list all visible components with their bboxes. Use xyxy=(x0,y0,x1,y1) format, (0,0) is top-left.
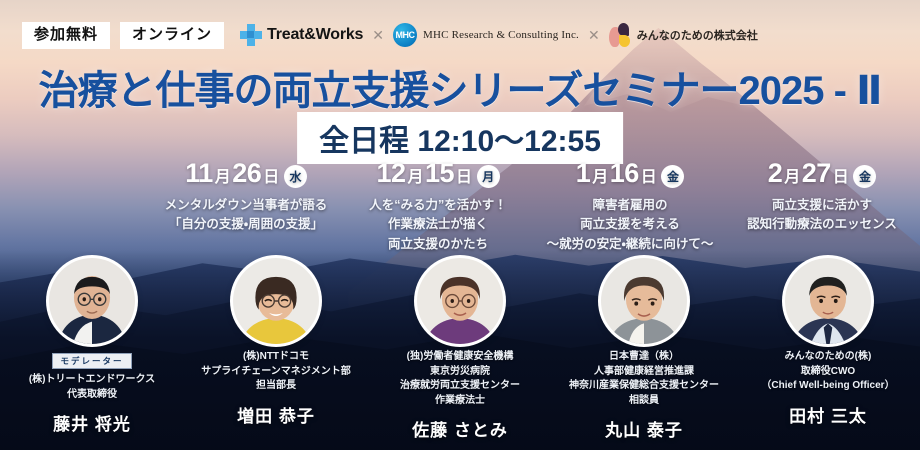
session-description-line: 「自分の支援・周囲の支援」 xyxy=(150,215,342,234)
treat-works-logo: Treat&Works xyxy=(240,24,363,46)
session-date: 11 月 26 日 水 xyxy=(150,160,342,187)
session-day-unit: 日 xyxy=(833,170,849,186)
session-day: 27 xyxy=(802,160,831,187)
badge-free-entry: 参加無料 xyxy=(22,22,110,49)
portrait-photo-sato xyxy=(417,258,503,344)
session-month: 2 xyxy=(768,160,783,187)
session-month-unit: 月 xyxy=(592,170,608,186)
speaker-org-line: 相談員 xyxy=(569,394,719,409)
avatar xyxy=(49,258,135,344)
mhc-wordmark: MHC Research & Consulting Inc. xyxy=(423,29,579,41)
leaf-petal-icon xyxy=(609,23,631,47)
portrait-photo-masuda xyxy=(233,258,319,344)
speaker-org-line: 東京労災病院 xyxy=(400,365,520,380)
speaker-organization: (株)トリートエンドワークス 代表取締役 xyxy=(29,373,155,402)
speaker-card: (株)NTTドコモ サプライチェーンマネジメント部 担当部長 増田 恭子 xyxy=(184,258,368,441)
schedule-time-band: 全日程 12:10〜12:55 xyxy=(297,112,623,164)
avatar xyxy=(417,258,503,344)
speaker-org-line: 神奈川産業保健総合支援センター xyxy=(569,379,719,394)
session-date-list: 11 月 26 日 水 メンタルダウン当事者が語る 「自分の支援・周囲の支援」 … xyxy=(150,160,920,254)
speaker-card: (独)労働者健康安全機構 東京労災病院 治療就労両立支援センター 作業療法士 佐… xyxy=(368,258,552,441)
speaker-org-line: 担当部長 xyxy=(201,379,351,394)
session-description-line: 両立支援のかたち xyxy=(342,235,534,254)
session-month-unit: 月 xyxy=(784,170,800,186)
speaker-org-line: 日本曹達（株） xyxy=(569,350,719,365)
speaker-name: 丸山 泰子 xyxy=(605,416,683,441)
session-item: 1 月 16 日 金 障害者雇用の 両立支援を考える 〜就労の安定・継続に向けて… xyxy=(534,160,726,254)
session-description-line: 認知行動療法のエッセンス xyxy=(726,215,918,234)
session-description-line: 人を“みる力”を活かす！ xyxy=(342,196,534,215)
session-day-unit: 日 xyxy=(456,170,472,186)
speaker-org-line: サプライチェーンマネジメント部 xyxy=(201,365,351,380)
session-dayofweek-badge: 月 xyxy=(477,165,500,188)
speaker-name: 藤井 将光 xyxy=(53,410,131,435)
session-description-line: 両立支援を考える xyxy=(534,215,726,234)
speaker-organization: (株)NTTドコモ サプライチェーンマネジメント部 担当部長 xyxy=(201,350,351,394)
session-day: 16 xyxy=(610,160,639,187)
portrait-photo-tamura xyxy=(785,258,871,344)
multiply-icon-2: ✕ xyxy=(588,27,600,44)
session-description-line: 作業療法士が描く xyxy=(342,215,534,234)
avatar xyxy=(601,258,687,344)
session-month: 1 xyxy=(576,160,591,187)
speaker-organization: (独)労働者健康安全機構 東京労災病院 治療就労両立支援センター 作業療法士 xyxy=(400,350,520,408)
session-month: 12 xyxy=(376,160,405,187)
session-description: 障害者雇用の 両立支援を考える 〜就労の安定・継続に向けて〜 xyxy=(534,196,726,254)
portrait-photo-fujii xyxy=(49,258,135,344)
session-month-unit: 月 xyxy=(407,170,423,186)
avatar xyxy=(785,258,871,344)
session-item: 11 月 26 日 水 メンタルダウン当事者が語る 「自分の支援・周囲の支援」 xyxy=(150,160,342,254)
minna-wordmark: みんなのための株式会社 xyxy=(637,27,758,43)
speaker-org-line: みんなのための(株) xyxy=(761,350,894,365)
speaker-org-line: (独)労働者健康安全機構 xyxy=(400,350,520,365)
session-month: 11 xyxy=(185,160,213,187)
session-item: 2 月 27 日 金 両立支援に活かす 認知行動療法のエッセンス xyxy=(726,160,918,254)
session-description-line: 障害者雇用の xyxy=(534,196,726,215)
portrait-photo-maruyama xyxy=(601,258,687,344)
session-day-unit: 日 xyxy=(641,170,657,186)
session-month-unit: 月 xyxy=(215,170,231,186)
session-dayofweek-badge: 金 xyxy=(661,165,684,188)
session-description: 両立支援に活かす 認知行動療法のエッセンス xyxy=(726,196,918,235)
mhc-logo: MHC MHC Research & Consulting Inc. xyxy=(393,23,579,47)
session-dayofweek-badge: 金 xyxy=(853,165,876,188)
session-description-line: 両立支援に活かす xyxy=(726,196,918,215)
speaker-org-line: 代表取締役 xyxy=(29,388,155,403)
session-day: 26 xyxy=(232,160,261,187)
session-date: 1 月 16 日 金 xyxy=(534,160,726,187)
speaker-org-line: (株)トリートエンドワークス xyxy=(29,373,155,388)
session-item: 12 月 15 日 月 人を“みる力”を活かす！ 作業療法士が描く 両立支援のか… xyxy=(342,160,534,254)
page-title: 治療と仕事の両立支援シリーズセミナー2025 - Ⅱ xyxy=(0,58,920,116)
session-description-line: メンタルダウン当事者が語る xyxy=(150,196,342,215)
speaker-org-line: 取締役CWO xyxy=(761,365,894,380)
treat-works-wordmark: Treat&Works xyxy=(267,26,363,44)
speaker-name: 増田 恭子 xyxy=(237,402,315,427)
speaker-org-line: 作業療法士 xyxy=(400,394,520,409)
speaker-org-line: （Chief Well-being Officer） xyxy=(761,379,894,394)
avatar xyxy=(233,258,319,344)
mhc-circle-icon: MHC xyxy=(393,23,417,47)
session-date: 2 月 27 日 金 xyxy=(726,160,918,187)
speaker-name: 佐藤 さとみ xyxy=(412,416,508,441)
multiply-icon-1: ✕ xyxy=(372,27,384,44)
session-day: 15 xyxy=(425,160,454,187)
speaker-card: みんなのための(株) 取締役CWO （Chief Well-being Offi… xyxy=(736,258,920,441)
top-badge-bar: 参加無料 オンライン Treat&Works ✕ MHC MHC Researc… xyxy=(22,22,758,49)
speaker-card: モデレーター (株)トリートエンドワークス 代表取締役 藤井 将光 xyxy=(0,258,184,441)
session-description: 人を“みる力”を活かす！ 作業療法士が描く 両立支援のかたち xyxy=(342,196,534,254)
seminar-banner: 参加無料 オンライン Treat&Works ✕ MHC MHC Researc… xyxy=(0,0,920,450)
badge-online: オンライン xyxy=(120,22,224,49)
speaker-org-line: 治療就労両立支援センター xyxy=(400,379,520,394)
minna-no-tame-no-logo: みんなのための株式会社 xyxy=(609,23,758,47)
session-description-line: 〜就労の安定・継続に向けて〜 xyxy=(534,235,726,254)
session-dayofweek-badge: 水 xyxy=(284,165,307,188)
speaker-organization: みんなのための(株) 取締役CWO （Chief Well-being Offi… xyxy=(761,350,894,394)
speaker-org-line: (株)NTTドコモ xyxy=(201,350,351,365)
speaker-organization: 日本曹達（株） 人事部健康経営推進課 神奈川産業保健総合支援センター 相談員 xyxy=(569,350,719,408)
session-day-unit: 日 xyxy=(263,170,279,186)
session-date: 12 月 15 日 月 xyxy=(342,160,534,187)
speaker-name: 田村 三太 xyxy=(789,402,867,427)
moderator-tag: モデレーター xyxy=(52,353,131,369)
speaker-org-line: 人事部健康経営推進課 xyxy=(569,365,719,380)
session-description: メンタルダウン当事者が語る 「自分の支援・周囲の支援」 xyxy=(150,196,342,235)
partner-logo-group: Treat&Works ✕ MHC MHC Research & Consult… xyxy=(240,23,758,47)
speaker-card: 日本曹達（株） 人事部健康経営推進課 神奈川産業保健総合支援センター 相談員 丸… xyxy=(552,258,736,441)
medical-cross-icon xyxy=(240,24,262,46)
speaker-list: モデレーター (株)トリートエンドワークス 代表取締役 藤井 将光 xyxy=(0,258,920,441)
